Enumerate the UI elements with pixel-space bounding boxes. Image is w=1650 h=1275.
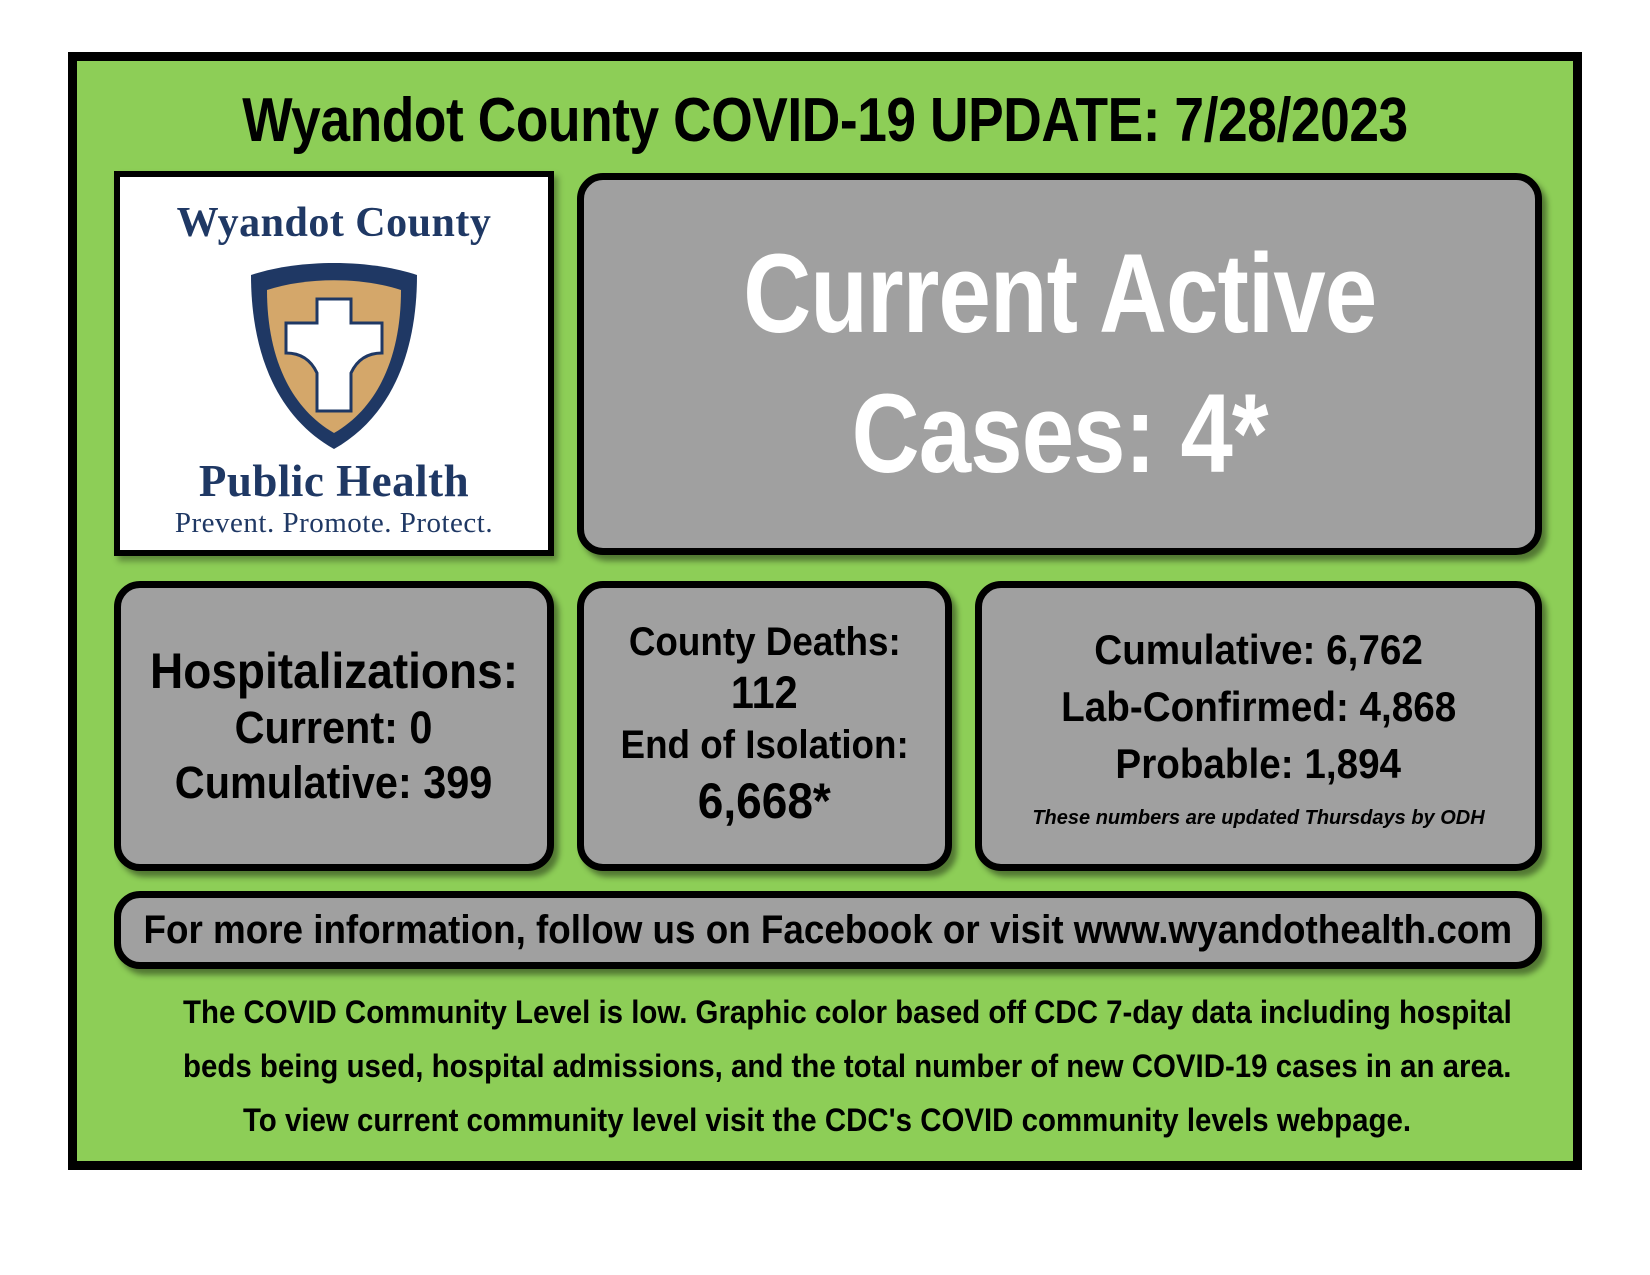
hospitalizations-current: Current: 0 <box>235 701 433 756</box>
more-information-bar[interactable]: For more information, follow us on Faceb… <box>114 891 1542 969</box>
county-deaths-value: 112 <box>731 666 798 721</box>
agency-logo-card: Wyandot County Public Health Prevent. Pr… <box>114 171 554 556</box>
hospitalizations-panel: Hospitalizations: Current: 0 Cumulative:… <box>114 581 554 871</box>
end-of-isolation-value: 6,668* <box>698 769 831 834</box>
logo-bottom-text: Public Health <box>120 455 548 507</box>
shield-icon <box>120 255 548 455</box>
hospitalizations-heading: Hospitalizations: <box>150 642 518 701</box>
county-deaths-panel: County Deaths: 112 End of Isolation: 6,6… <box>577 581 952 871</box>
page-title: Wyandot County COVID-19 UPDATE: 7/28/202… <box>182 85 1469 156</box>
county-deaths-label: County Deaths: <box>629 618 901 666</box>
current-active-cases-panel: Current Active Cases: 4* <box>577 173 1542 555</box>
footnote-line-3: To view current community level visit th… <box>183 1094 1471 1148</box>
cumulative-total: Cumulative: 6,762 <box>1094 622 1423 679</box>
footnote-line-2: beds being used, hospital admissions, an… <box>183 1040 1471 1094</box>
end-of-isolation-label: End of Isolation: <box>620 721 908 769</box>
website-link-text[interactable]: For more information, follow us on Faceb… <box>144 908 1513 953</box>
active-cases-value: Cases: 4* <box>851 364 1267 504</box>
community-level-footnote: The COVID Community Level is low. Graphi… <box>127 986 1527 1147</box>
odh-update-note: These numbers are updated Thursdays by O… <box>1032 807 1484 830</box>
logo-top-text: Wyandot County <box>120 199 548 247</box>
poster-frame: Wyandot County COVID-19 UPDATE: 7/28/202… <box>68 52 1582 1170</box>
probable-count: Probable: 1,894 <box>1116 736 1402 793</box>
logo-tagline: Prevent. Promote. Protect. <box>120 507 548 540</box>
lab-confirmed-count: Lab-Confirmed: 4,868 <box>1061 679 1456 736</box>
active-cases-label: Current Active <box>743 224 1376 364</box>
cumulative-cases-panel: Cumulative: 6,762 Lab-Confirmed: 4,868 P… <box>975 581 1542 871</box>
hospitalizations-cumulative: Cumulative: 399 <box>175 756 493 811</box>
footnote-line-1: The COVID Community Level is low. Graphi… <box>183 986 1471 1040</box>
